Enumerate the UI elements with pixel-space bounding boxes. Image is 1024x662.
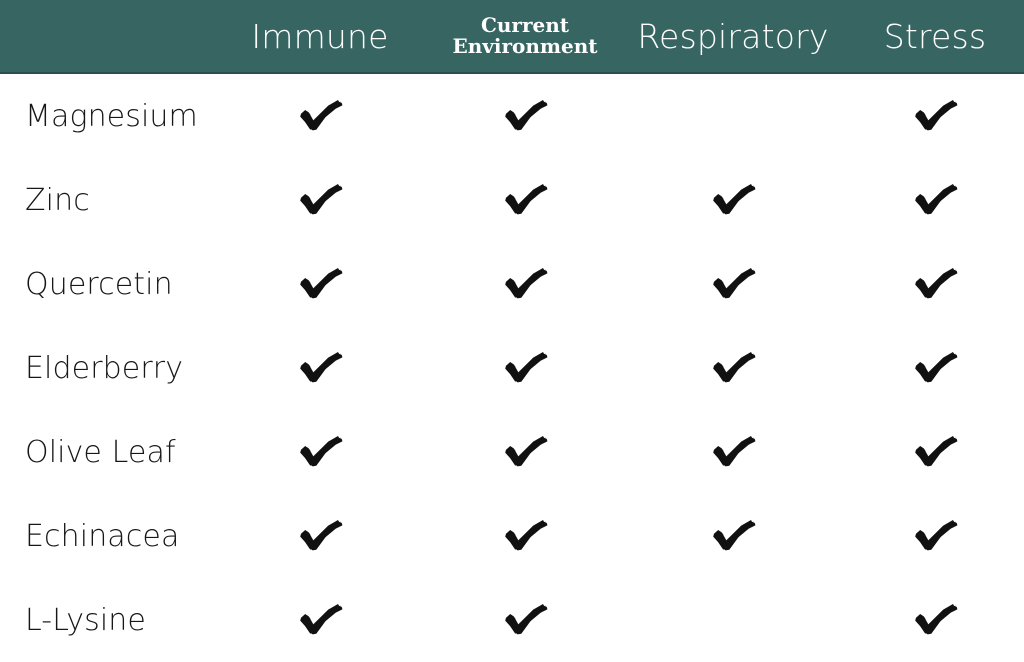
cell-echinacea-respiratory xyxy=(683,494,783,578)
cell-l-lysine-stress xyxy=(885,578,985,662)
brush-checkmark-icon xyxy=(710,264,756,304)
table-row: Echinacea xyxy=(0,494,1024,578)
cell-elderberry-immune xyxy=(270,326,370,410)
cell-magnesium-immune xyxy=(270,74,370,158)
table-header-band: Immune Current Environment Respiratory S… xyxy=(0,0,1024,74)
brush-checkmark-icon xyxy=(912,96,958,136)
table-row: L-Lysine xyxy=(0,578,1024,662)
cell-magnesium-stress xyxy=(885,74,985,158)
brush-checkmark-icon xyxy=(502,432,548,472)
column-header-current-environment: Current Environment xyxy=(440,0,610,72)
cell-zinc-stress xyxy=(885,158,985,242)
column-header-label-block: Current Environment xyxy=(452,15,597,57)
table-row: Zinc xyxy=(0,158,1024,242)
cell-elderberry-respiratory xyxy=(683,326,783,410)
cell-olive-leaf-stress xyxy=(885,410,985,494)
cell-quercetin-stress xyxy=(885,242,985,326)
cell-olive-leaf-immune xyxy=(270,410,370,494)
table-row: Olive Leaf xyxy=(0,410,1024,494)
cell-zinc-current-environment xyxy=(475,158,575,242)
brush-checkmark-icon xyxy=(912,348,958,388)
column-header-label: Immune xyxy=(251,20,388,53)
cell-echinacea-current-environment xyxy=(475,494,575,578)
cell-zinc-immune xyxy=(270,158,370,242)
brush-checkmark-icon xyxy=(912,264,958,304)
table-row: Magnesium xyxy=(0,74,1024,158)
cell-elderberry-current-environment xyxy=(475,326,575,410)
cell-elderberry-stress xyxy=(885,326,985,410)
column-header-label: Respiratory xyxy=(637,20,828,53)
brush-checkmark-icon xyxy=(297,432,343,472)
row-label-echinacea: Echinacea xyxy=(25,494,179,578)
table-row: Quercetin xyxy=(0,242,1024,326)
table-body: MagnesiumZincQuercetinElderberryOlive Le… xyxy=(0,74,1024,634)
brush-checkmark-icon xyxy=(710,432,756,472)
brush-checkmark-icon xyxy=(297,96,343,136)
brush-checkmark-icon xyxy=(502,96,548,136)
cell-l-lysine-immune xyxy=(270,578,370,662)
brush-checkmark-icon xyxy=(502,600,548,640)
row-label-quercetin: Quercetin xyxy=(25,242,173,326)
table-row: Elderberry xyxy=(0,326,1024,410)
brush-checkmark-icon xyxy=(502,516,548,556)
column-header-stress: Stress xyxy=(850,0,1020,72)
cell-olive-leaf-current-environment xyxy=(475,410,575,494)
row-label-olive-leaf: Olive Leaf xyxy=(25,410,176,494)
row-label-elderberry: Elderberry xyxy=(25,326,183,410)
cell-quercetin-respiratory xyxy=(683,242,783,326)
brush-checkmark-icon xyxy=(912,600,958,640)
cell-echinacea-immune xyxy=(270,494,370,578)
column-header-immune: Immune xyxy=(200,0,440,72)
cell-echinacea-stress xyxy=(885,494,985,578)
brush-checkmark-icon xyxy=(297,180,343,220)
cell-magnesium-current-environment xyxy=(475,74,575,158)
brush-checkmark-icon xyxy=(912,432,958,472)
benefit-matrix-table: Immune Current Environment Respiratory S… xyxy=(0,0,1024,634)
cell-l-lysine-respiratory xyxy=(683,578,783,662)
brush-checkmark-icon xyxy=(912,180,958,220)
brush-checkmark-icon xyxy=(710,180,756,220)
row-label-l-lysine: L-Lysine xyxy=(25,578,146,662)
cell-zinc-respiratory xyxy=(683,158,783,242)
row-label-magnesium: Magnesium xyxy=(25,74,198,158)
brush-checkmark-icon xyxy=(710,516,756,556)
brush-checkmark-icon xyxy=(297,516,343,556)
cell-olive-leaf-respiratory xyxy=(683,410,783,494)
brush-checkmark-icon xyxy=(297,348,343,388)
row-label-zinc: Zinc xyxy=(25,158,90,242)
column-header-respiratory: Respiratory xyxy=(618,0,848,72)
column-header-label-line-1: Current xyxy=(452,15,597,36)
cell-quercetin-current-environment xyxy=(475,242,575,326)
brush-checkmark-icon xyxy=(297,264,343,304)
brush-checkmark-icon xyxy=(912,516,958,556)
column-header-label: Stress xyxy=(884,20,987,53)
brush-checkmark-icon xyxy=(502,180,548,220)
brush-checkmark-icon xyxy=(502,348,548,388)
brush-checkmark-icon xyxy=(297,600,343,640)
cell-l-lysine-current-environment xyxy=(475,578,575,662)
brush-checkmark-icon xyxy=(710,348,756,388)
cell-quercetin-immune xyxy=(270,242,370,326)
brush-checkmark-icon xyxy=(502,264,548,304)
cell-magnesium-respiratory xyxy=(683,74,783,158)
column-header-label-line-2: Environment xyxy=(452,36,597,57)
